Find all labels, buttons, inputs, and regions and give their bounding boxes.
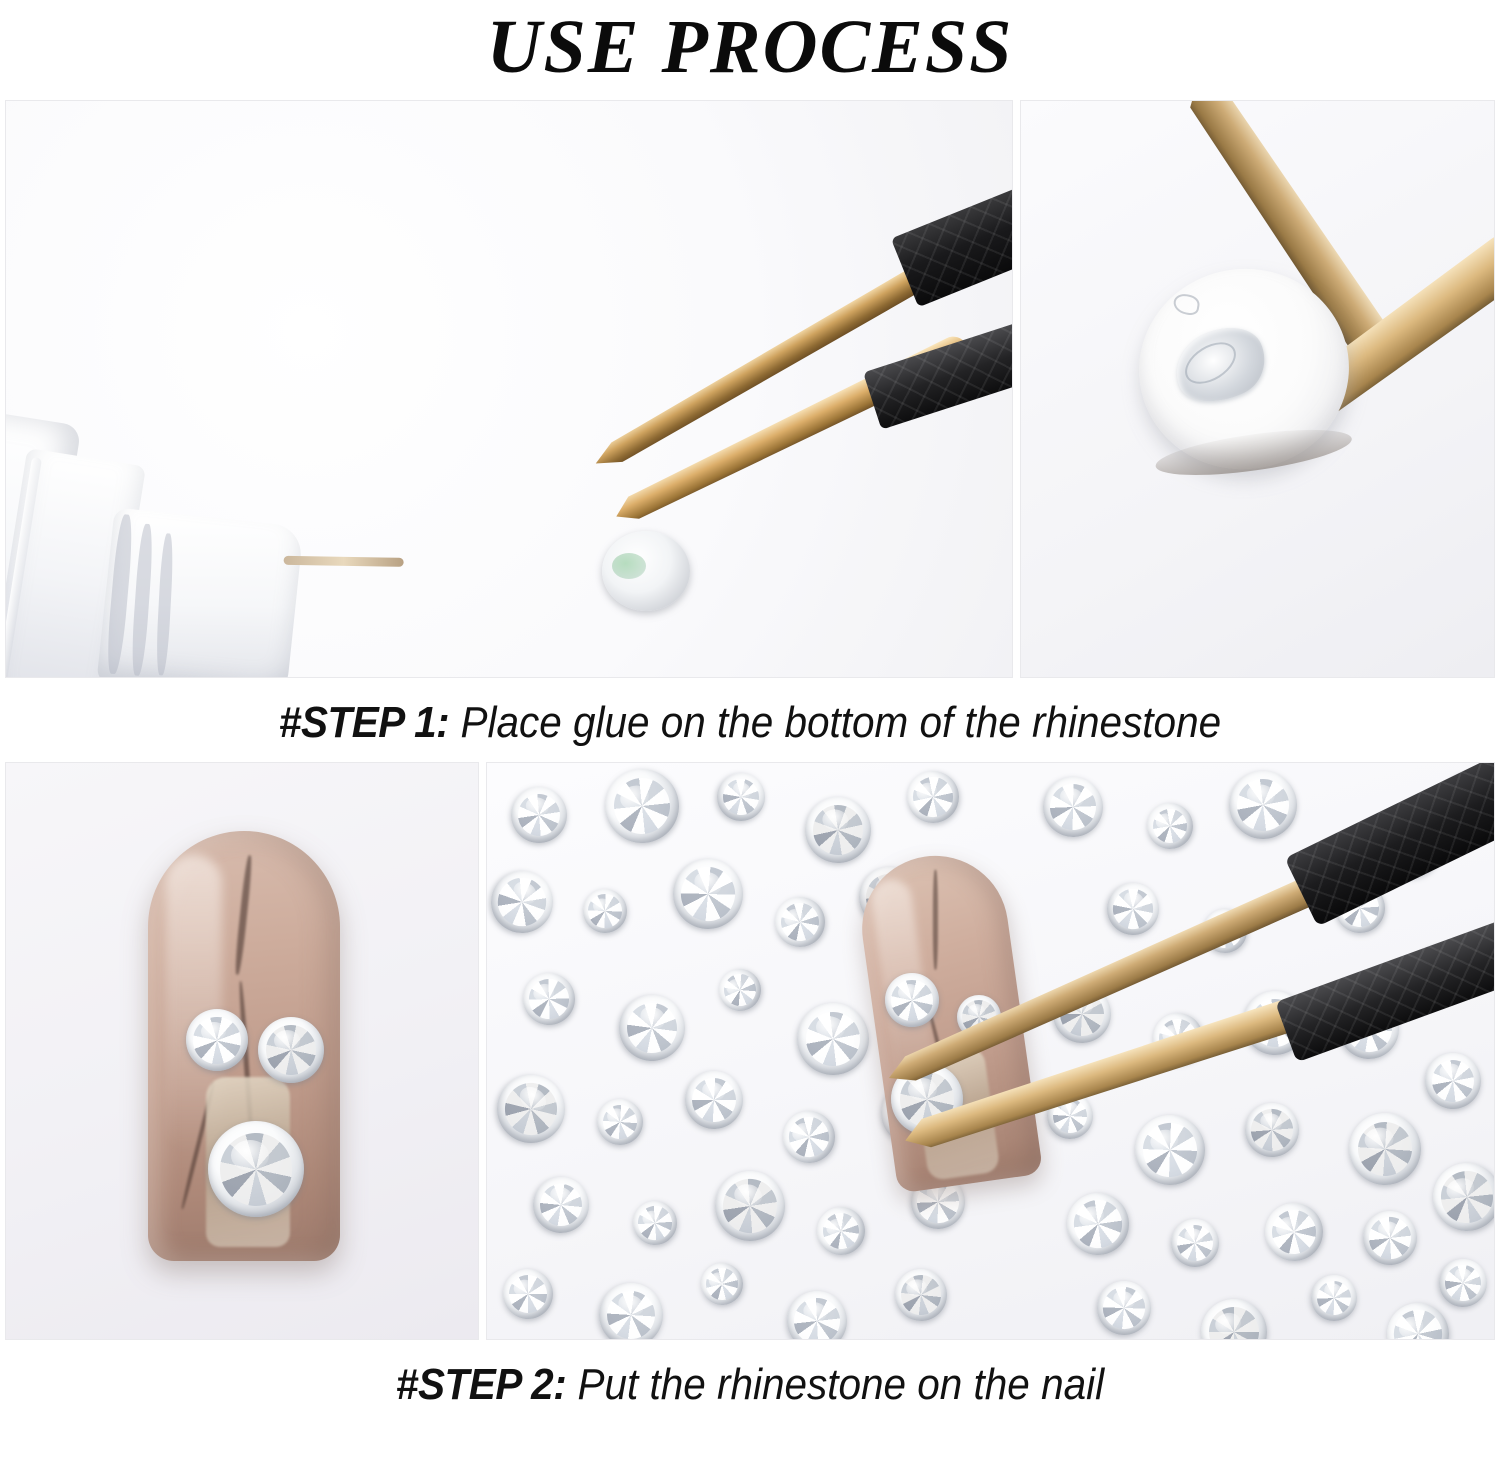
tweezer-handle-lower bbox=[863, 292, 1013, 429]
rhinestone bbox=[186, 1009, 248, 1071]
handle-grip-texture bbox=[863, 292, 1013, 429]
step-1-caption: #STEP 1: Place glue on the bottom of the… bbox=[65, 678, 1436, 762]
rhinestone bbox=[258, 1017, 324, 1083]
step-1-panels bbox=[5, 100, 1495, 678]
decorated-nail-photo bbox=[5, 762, 479, 1340]
nail-marble-streak bbox=[933, 870, 938, 970]
step-2-label: #STEP 2: bbox=[396, 1360, 566, 1409]
rhinestone bbox=[885, 973, 939, 1027]
glue-bottle-and-tweezers-photo bbox=[5, 100, 1013, 678]
tweezers bbox=[566, 201, 1013, 621]
glue-applicator-needle bbox=[284, 556, 404, 567]
step-1-label: #STEP 1: bbox=[279, 698, 449, 747]
applying-rhinestone-photo bbox=[486, 762, 1495, 1340]
step-2-text: Put the rhinestone on the nail bbox=[566, 1360, 1104, 1409]
page-title: USE PROCESS bbox=[487, 9, 1014, 91]
step-1-text: Place glue on the bottom of the rhinesto… bbox=[449, 698, 1221, 747]
step-1-section: #STEP 1: Place glue on the bottom of the… bbox=[5, 100, 1495, 762]
rhinestone bbox=[208, 1121, 304, 1217]
press-on-nail bbox=[148, 831, 340, 1261]
flatback-mark bbox=[1172, 292, 1201, 316]
rhinestone-with-glue bbox=[602, 531, 690, 611]
nail-marble-streak bbox=[234, 855, 254, 975]
step-2-panels bbox=[5, 762, 1495, 1340]
step-2-section: #STEP 2: Put the rhinestone on the nail bbox=[5, 762, 1495, 1424]
step-2-caption: #STEP 2: Put the rhinestone on the nail bbox=[65, 1340, 1436, 1424]
page-header: USE PROCESS bbox=[0, 0, 1500, 100]
glue-blob bbox=[1164, 315, 1277, 416]
rhinestone-flatback-closeup-photo bbox=[1020, 100, 1495, 678]
